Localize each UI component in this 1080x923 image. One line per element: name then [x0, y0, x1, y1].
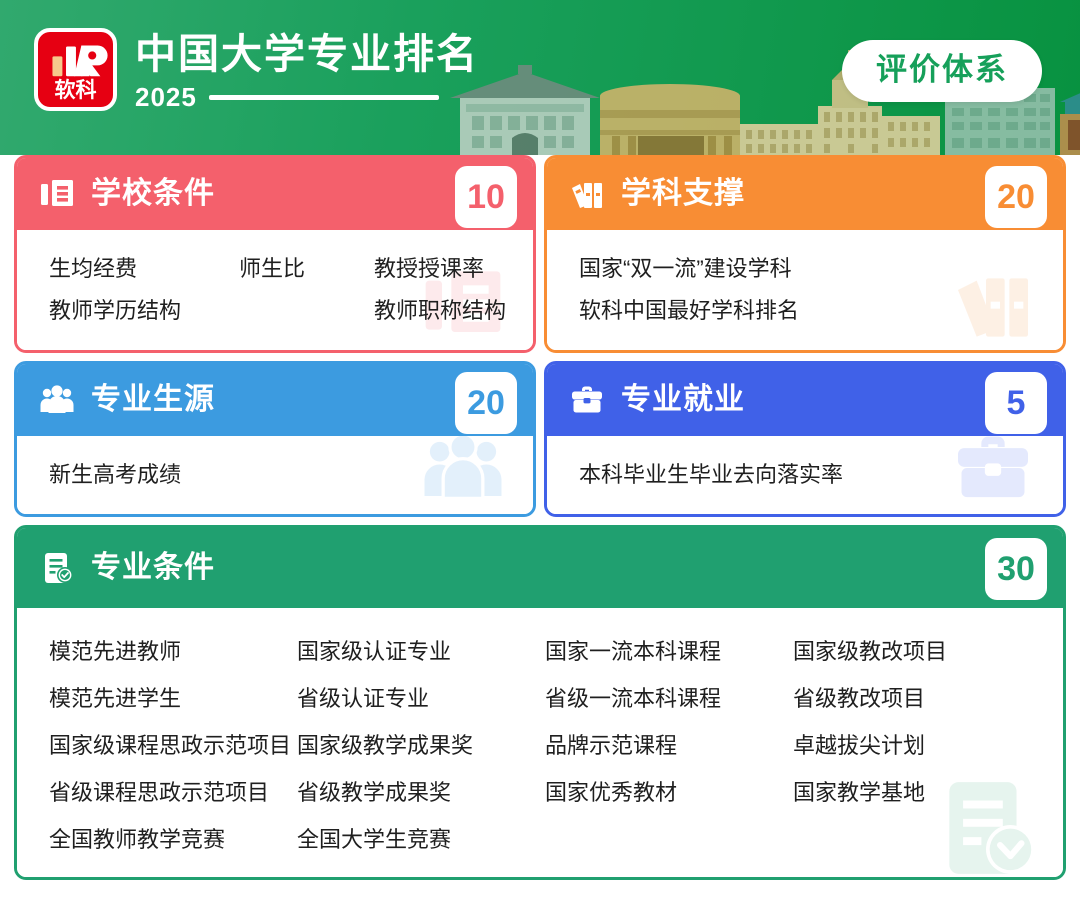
card-body: 生均经费 师生比 教授授课率 教师学历结构 教师职称结构 [17, 230, 533, 350]
card-school-conditions[interactable]: 学校条件 10 生均经费 师生比 教授 [14, 155, 536, 353]
card-score: 5 [985, 372, 1047, 434]
document-check-icon [39, 550, 75, 586]
card-header: 专业条件 30 [17, 528, 1063, 608]
evaluation-system-infographic: 软科 中国大学专业排名 2025 评价体系 [0, 0, 1080, 923]
list-item: 模范先进学生 [49, 675, 297, 722]
list-item: 全国大学生竞赛 [297, 816, 545, 863]
card-major-student-source[interactable]: 专业生源 20 新生高考成绩 [14, 361, 536, 517]
card-row-2: 专业生源 20 新生高考成绩 [14, 361, 1066, 517]
softscience-logo: 软科 [34, 28, 117, 111]
item-line: 本科毕业生毕业去向落实率 [579, 454, 1041, 496]
item-line: 教师学历结构 教师职称结构 [49, 290, 511, 332]
card-items: 生均经费 师生比 教授授课率 教师学历结构 教师职称结构 [49, 248, 511, 332]
title-rule [209, 95, 439, 100]
list-item: 省级教改项目 [793, 675, 993, 722]
brand-block: 软科 中国大学专业排名 2025 [34, 28, 479, 113]
list-item: 国家级认证专业 [297, 628, 545, 675]
list-item: 国家“双一流”建设学科 [579, 248, 792, 290]
list-item: 本科毕业生毕业去向落实率 [579, 454, 843, 496]
card-grid: 学校条件 10 生均经费 师生比 教授 [0, 155, 1080, 880]
list-item: 卓越拔尖计划 [793, 722, 993, 769]
title-block: 中国大学专业排名 2025 [135, 28, 479, 113]
list-item: 软科中国最好学科排名 [579, 290, 799, 332]
logo-text: 软科 [38, 80, 113, 102]
card-row-3: 专业条件 30 模范先进教师 国家级认证专业 [14, 525, 1066, 880]
card-score: 20 [455, 372, 517, 434]
list-item: 教授授课率 [374, 248, 484, 290]
year-row: 2025 [135, 82, 479, 113]
briefcase-icon [569, 382, 605, 418]
card-major-conditions[interactable]: 专业条件 30 模范先进教师 国家级认证专业 [14, 525, 1066, 880]
books-shelf-icon [569, 176, 605, 212]
card-title: 学校条件 [91, 177, 215, 211]
card-items: 国家“双一流”建设学科 软科中国最好学科排名 [579, 248, 1041, 332]
card-discipline-support[interactable]: 学科支撑 20 国家“双一流”建设学科 [544, 155, 1066, 353]
list-item: 国家级教学成果奖 [297, 722, 545, 769]
evaluation-system-badge[interactable]: 评价体系 [842, 40, 1042, 102]
item-line: 软科中国最好学科排名 [579, 290, 1041, 332]
list-item: 品牌示范课程 [545, 722, 793, 769]
card-header: 专业生源 20 [17, 364, 533, 436]
list-item [545, 816, 793, 863]
list-item: 国家级教改项目 [793, 628, 993, 675]
item-line: 新生高考成绩 [49, 454, 511, 496]
list-item: 省级课程思政示范项目 [49, 769, 297, 816]
card-header: 学科支撑 20 [547, 158, 1063, 230]
people-group-icon [39, 382, 75, 418]
list-item: 国家一流本科课程 [545, 628, 793, 675]
list-item: 省级教学成果奖 [297, 769, 545, 816]
list-item: 师生比 [239, 248, 374, 290]
card-body: 模范先进教师 国家级认证专业 国家一流本科课程 国家级教改项目 模范先进学生 省… [17, 608, 1063, 877]
card-score: 30 [985, 538, 1047, 600]
card-score: 20 [985, 166, 1047, 228]
list-item: 新生高考成绩 [49, 454, 181, 496]
card-score: 10 [455, 166, 517, 228]
school-building-icon [39, 176, 75, 212]
list-item: 教师学历结构 [49, 290, 374, 332]
list-item [793, 816, 993, 863]
list-item: 教师职称结构 [374, 290, 506, 332]
card-items: 模范先进教师 国家级认证专业 国家一流本科课程 国家级教改项目 模范先进学生 省… [49, 628, 1041, 863]
card-body: 国家“双一流”建设学科 软科中国最好学科排名 [547, 230, 1063, 350]
card-items: 本科毕业生毕业去向落实率 [579, 454, 1041, 496]
list-item: 国家级课程思政示范项目 [49, 722, 297, 769]
card-items: 新生高考成绩 [49, 454, 511, 496]
year-label: 2025 [135, 82, 197, 113]
card-row-1: 学校条件 10 生均经费 师生比 教授 [14, 155, 1066, 353]
item-line: 国家“双一流”建设学科 [579, 248, 1041, 290]
item-line: 生均经费 师生比 教授授课率 [49, 248, 511, 290]
list-item: 生均经费 [49, 248, 239, 290]
card-title: 专业就业 [621, 383, 745, 417]
list-item: 省级一流本科课程 [545, 675, 793, 722]
list-item: 模范先进教师 [49, 628, 297, 675]
card-title: 专业条件 [91, 551, 215, 585]
list-item: 省级认证专业 [297, 675, 545, 722]
list-item: 国家教学基地 [793, 769, 993, 816]
card-major-employment[interactable]: 专业就业 5 本科毕业生毕业去向落实率 [544, 361, 1066, 517]
list-item: 全国教师教学竞赛 [49, 816, 297, 863]
card-body: 新生高考成绩 [17, 436, 533, 514]
card-header: 学校条件 10 [17, 158, 533, 230]
softscience-bar-logo-icon [38, 36, 113, 84]
card-title: 专业生源 [91, 383, 215, 417]
page-header: 软科 中国大学专业排名 2025 评价体系 [0, 0, 1080, 155]
page-title: 中国大学专业排名 [135, 30, 479, 78]
list-item: 国家优秀教材 [545, 769, 793, 816]
card-body: 本科毕业生毕业去向落实率 [547, 436, 1063, 514]
card-title: 学科支撑 [621, 177, 745, 211]
card-header: 专业就业 5 [547, 364, 1063, 436]
